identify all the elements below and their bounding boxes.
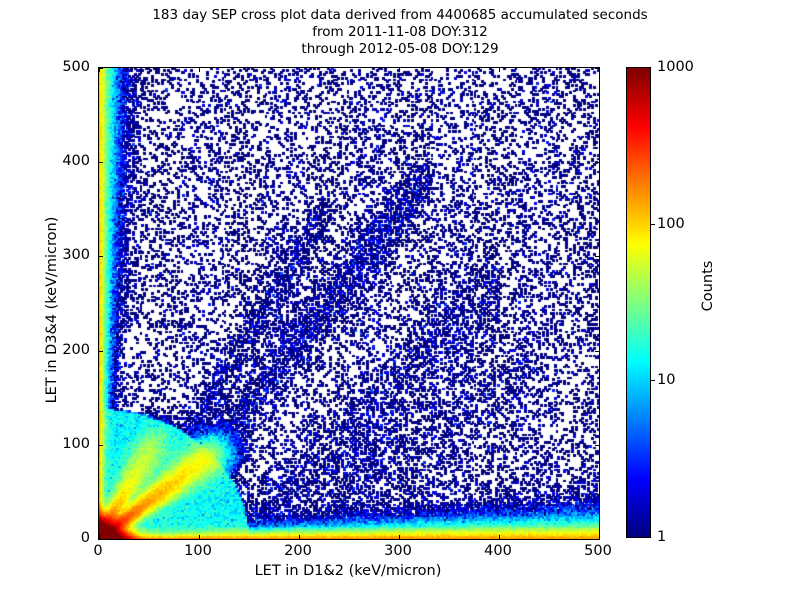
y-tick-300 (595, 256, 599, 257)
title-line-2: from 2011-11-08 DOY:312 (0, 24, 800, 41)
title-line-3: through 2012-05-08 DOY:129 (0, 41, 800, 58)
colorbar-gradient (626, 67, 651, 538)
y-tick-200 (595, 351, 599, 352)
y-tick-label-400: 400 (40, 153, 90, 169)
x-tick-200 (299, 68, 300, 72)
y-tick-0 (99, 539, 103, 540)
title-line-1: 183 day SEP cross plot data derived from… (0, 7, 800, 24)
y-tick-300 (99, 256, 103, 257)
colorbar-tick-label-1000: 1000 (657, 59, 694, 75)
x-tick-label-500: 500 (584, 543, 612, 559)
y-tick-200 (99, 351, 103, 352)
colorbar: 1101001000 (626, 67, 651, 538)
x-tick-400 (499, 535, 500, 539)
plot-axes (98, 67, 600, 540)
y-tick-400 (595, 162, 599, 163)
y-tick-0 (595, 539, 599, 540)
x-tick-500 (599, 68, 600, 72)
colorbar-tick-100 (651, 224, 655, 225)
y-axis-label: LET in D3&4 (keV/micron) (44, 170, 60, 450)
y-tick-500 (595, 68, 599, 69)
colorbar-tick-label-100: 100 (657, 216, 685, 232)
x-tick-label-300: 300 (384, 543, 412, 559)
x-tick-300 (399, 68, 400, 72)
colorbar-tick-label-10: 10 (657, 372, 675, 388)
y-tick-label-0: 0 (40, 530, 90, 546)
x-tick-500 (599, 535, 600, 539)
x-axis-label: LET in D1&2 (keV/micron) (98, 563, 598, 579)
plot-title: 183 day SEP cross plot data derived from… (0, 7, 800, 58)
heatmap-scatter-layer (99, 68, 599, 539)
colorbar-tick-label-1: 1 (657, 529, 666, 545)
y-tick-label-500: 500 (40, 59, 90, 75)
x-tick-200 (299, 535, 300, 539)
x-tick-label-400: 400 (484, 543, 512, 559)
x-tick-300 (399, 535, 400, 539)
y-tick-100 (99, 445, 103, 446)
y-tick-400 (99, 162, 103, 163)
y-tick-500 (99, 68, 103, 69)
colorbar-tick-10 (651, 380, 655, 381)
x-tick-100 (199, 68, 200, 72)
figure-canvas: 183 day SEP cross plot data derived from… (0, 0, 800, 600)
x-tick-label-100: 100 (184, 543, 212, 559)
x-tick-100 (199, 535, 200, 539)
colorbar-label: Counts (700, 226, 716, 346)
x-tick-label-200: 200 (284, 543, 312, 559)
x-tick-label-0: 0 (93, 543, 102, 559)
y-tick-100 (595, 445, 599, 446)
x-tick-400 (499, 68, 500, 72)
